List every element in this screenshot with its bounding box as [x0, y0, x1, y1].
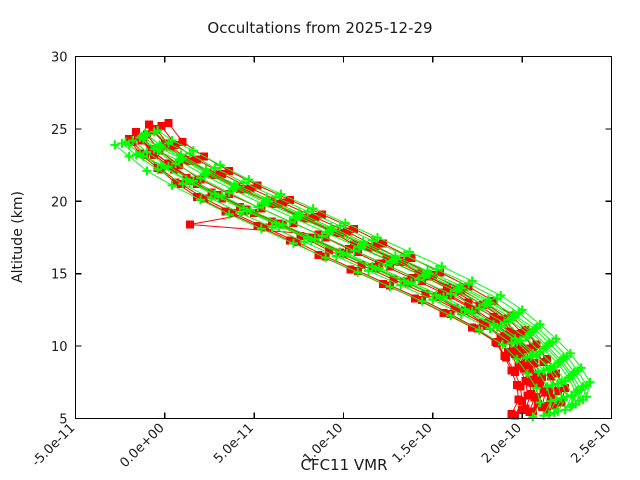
chart-canvas: Occultations from 2025-12-29 -5.0e-110.0…: [0, 0, 640, 480]
y-tick-label: 25: [51, 123, 68, 138]
data-point-marker: [518, 397, 526, 405]
y-tick-label: 5: [59, 413, 67, 428]
data-point-marker: [511, 368, 519, 376]
y-tick-label: 20: [51, 195, 68, 210]
data-point-marker: [164, 119, 172, 127]
y-tick-label: 10: [51, 340, 68, 355]
occultation-profile-plot: Occultations from 2025-12-29 -5.0e-110.0…: [0, 0, 640, 480]
y-axis-label: Altitude (km): [10, 191, 26, 283]
data-point-marker: [186, 221, 194, 229]
data-point-marker: [502, 354, 510, 362]
data-point-marker: [531, 394, 539, 402]
chart-title: Occultations from 2025-12-29: [207, 19, 432, 37]
data-point-marker: [516, 383, 524, 391]
y-tick-label: 15: [51, 268, 68, 283]
y-tick-label: 30: [51, 51, 68, 66]
data-point-marker: [474, 325, 482, 333]
x-axis-label: CFC11 VMR: [300, 456, 387, 474]
